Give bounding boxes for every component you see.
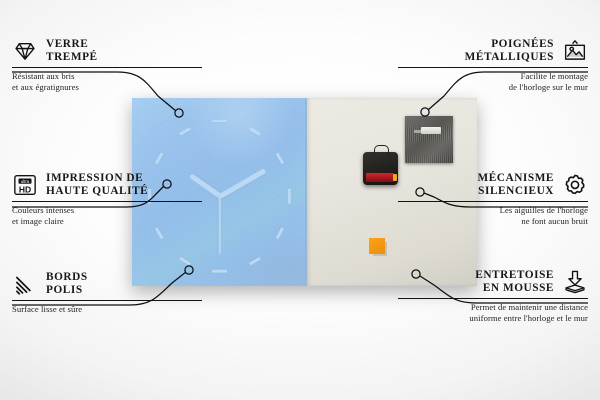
clock-tick: [155, 228, 163, 240]
callout-poignees-metalliques: POIGNÉES MÉTALLIQUES Facilite le montage…: [398, 38, 588, 92]
callout-header: BORDS POLIS: [12, 271, 202, 297]
picture-hanger-icon: [562, 38, 588, 64]
callout-title: ENTRETOISE EN MOUSSE: [475, 269, 554, 295]
desc-line-2: ne font aucun bruit: [521, 216, 588, 226]
divider: [12, 67, 202, 68]
callout-description: Résistant aux bris et aux égratignures: [12, 71, 202, 92]
clock-tick: [249, 257, 261, 265]
title-line-2: POLIS: [46, 284, 83, 296]
callout-entretoise-en-mousse: ENTRETOISE EN MOUSSE Permet de maintenir…: [398, 269, 588, 323]
hand-minute: [218, 168, 265, 198]
divider: [398, 298, 588, 299]
clock-tick: [276, 228, 284, 240]
title-line-1: POIGNÉES: [491, 38, 554, 50]
desc-line-1: Surface lisse et sûre: [12, 304, 82, 314]
callout-title: IMPRESSION DE HAUTE QUALITÉ: [46, 172, 148, 198]
clock-tick: [179, 257, 191, 265]
clock-tick: [155, 153, 163, 165]
title-line-2: HAUTE QUALITÉ: [46, 185, 148, 197]
clock-tick: [249, 127, 261, 135]
desc-line-2: de l'horloge sur le mur: [509, 82, 588, 92]
movement-hook: [374, 145, 389, 155]
callout-description: Surface lisse et sûre: [12, 304, 202, 314]
title-line-1: VERRE: [46, 38, 88, 50]
hand-second: [219, 196, 221, 254]
callout-header: MÉCANISME SILENCIEUX: [398, 172, 588, 198]
desc-line-2: et image claire: [12, 216, 64, 226]
callout-header: VERRE TREMPÉ: [12, 38, 202, 64]
title-line-2: MÉTALLIQUES: [465, 51, 554, 63]
clock-tick: [212, 270, 227, 273]
ultra-hd-icon: ultra HD: [12, 172, 38, 198]
callout-header: POIGNÉES MÉTALLIQUES: [398, 38, 588, 64]
divider: [12, 300, 202, 301]
desc-line-1: Couleurs intenses: [12, 205, 74, 215]
callout-title: MÉCANISME SILENCIEUX: [478, 172, 555, 198]
callout-title: POIGNÉES MÉTALLIQUES: [465, 38, 554, 64]
desc-line-1: Facilite le montage: [521, 71, 588, 81]
callout-description: Couleurs intenses et image claire: [12, 205, 202, 226]
callout-title: BORDS POLIS: [46, 271, 88, 297]
callout-header: ultra HD IMPRESSION DE HAUTE QUALITÉ: [12, 172, 202, 198]
hanger-slot: [421, 127, 441, 134]
foam-spacer: [369, 238, 385, 254]
callout-header: ENTRETOISE EN MOUSSE: [398, 269, 588, 295]
title-line-2: TREMPÉ: [46, 51, 98, 63]
gear-icon: [562, 172, 588, 198]
callout-title: VERRE TREMPÉ: [46, 38, 98, 64]
metal-hanger-plate: [405, 116, 453, 163]
desc-line-1: Résistant aux bris: [12, 71, 75, 81]
desc-line-2: uniforme entre l'horloge et le mur: [469, 313, 588, 323]
foam-spacer-icon: [562, 269, 588, 295]
svg-text:ultra: ultra: [21, 179, 30, 184]
callout-description: Les aiguilles de l'horloge ne font aucun…: [398, 205, 588, 226]
divider: [12, 201, 202, 202]
callout-description: Facilite le montage de l'horloge sur le …: [398, 71, 588, 92]
title-line-1: IMPRESSION DE: [46, 172, 143, 184]
title-line-1: BORDS: [46, 271, 88, 283]
divider: [398, 201, 588, 202]
callout-verre-trempe: VERRE TREMPÉ Résistant aux bris et aux é…: [12, 38, 202, 92]
infographic-canvas: VERRE TREMPÉ Résistant aux bris et aux é…: [0, 0, 600, 400]
title-line-2: EN MOUSSE: [483, 282, 554, 294]
clock-tick: [276, 153, 284, 165]
title-line-1: MÉCANISME: [478, 172, 555, 184]
polished-edges-icon: [12, 271, 38, 297]
quartz-movement: [363, 152, 398, 185]
clock-tick: [288, 188, 291, 203]
clock-tick: [212, 120, 227, 123]
battery: [366, 173, 394, 182]
diamond-icon: [12, 38, 38, 64]
divider: [398, 67, 588, 68]
callout-mecanisme-silencieux: MÉCANISME SILENCIEUX Les aiguilles de l'…: [398, 172, 588, 226]
title-line-1: ENTRETOISE: [475, 269, 554, 281]
callout-description: Permet de maintenir une distance uniform…: [398, 302, 588, 323]
desc-line-1: Les aiguilles de l'horloge: [500, 205, 588, 215]
callout-impression-haute-qualite: ultra HD IMPRESSION DE HAUTE QUALITÉ Cou…: [12, 172, 202, 226]
title-line-2: SILENCIEUX: [478, 185, 554, 197]
svg-text:HD: HD: [19, 184, 31, 194]
callout-bords-polis: BORDS POLIS Surface lisse et sûre: [12, 271, 202, 315]
desc-line-1: Permet de maintenir une distance: [471, 302, 588, 312]
clock-tick: [179, 127, 191, 135]
desc-line-2: et aux égratignures: [12, 82, 79, 92]
